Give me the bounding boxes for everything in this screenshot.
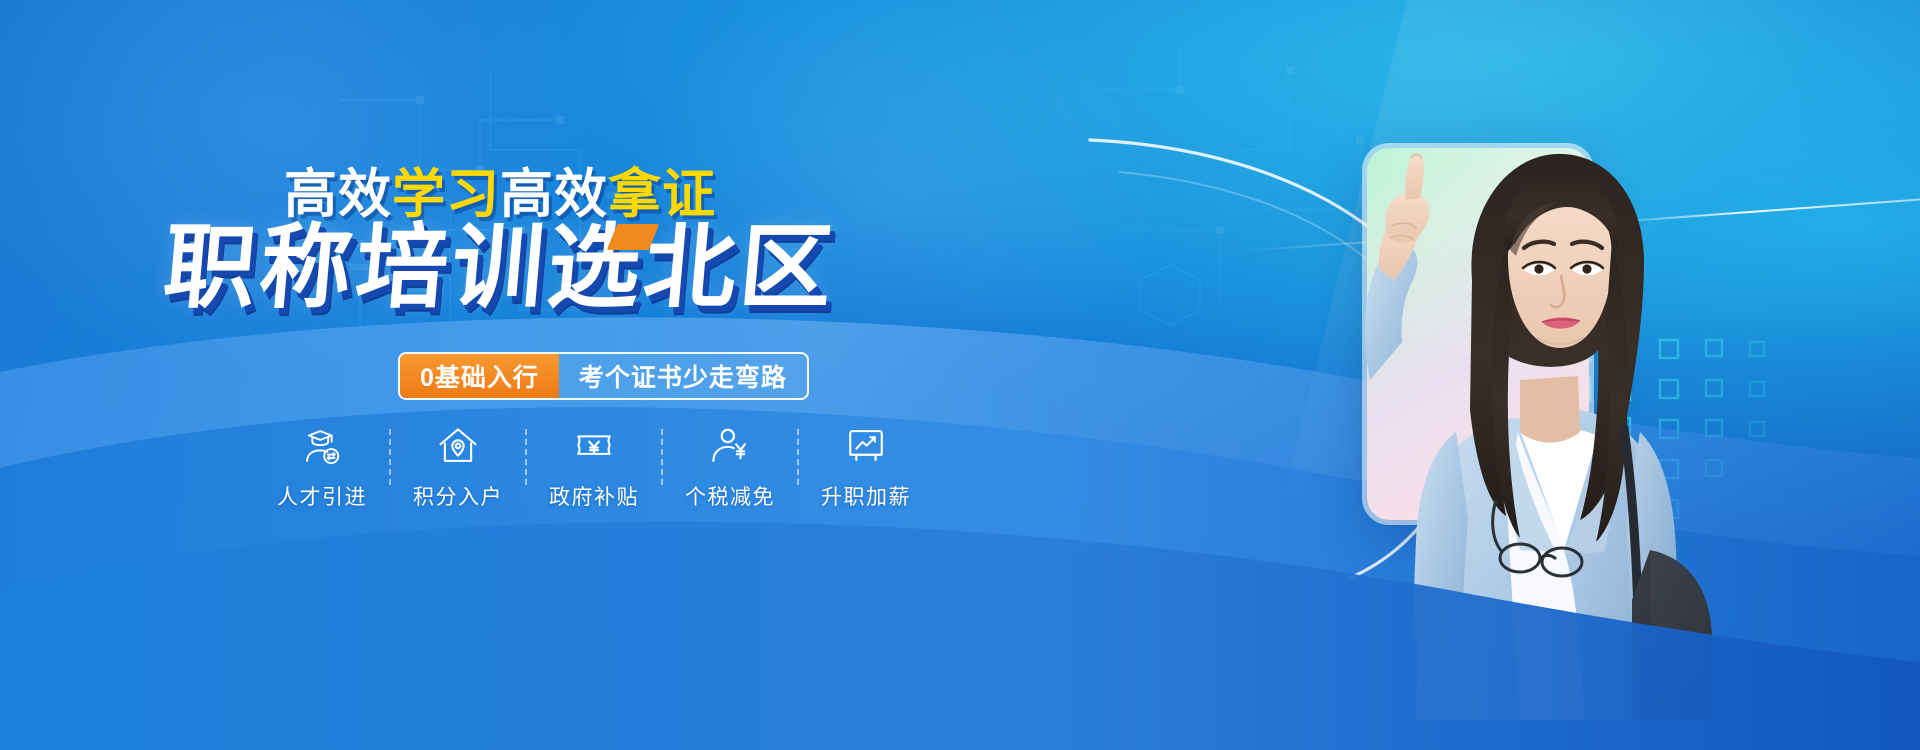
subtitle-bar: 0基础入行 考个证书少走弯路 [398, 352, 809, 400]
foreground-bottom-wave [0, 450, 1920, 750]
headline-wrap: 职称培训选北区 [0, 216, 1000, 319]
page-title: 职称培训选北区 [159, 216, 840, 319]
subtitle-text: 考个证书少走弯路 [559, 354, 807, 398]
zero-base-badge: 0基础入行 [400, 354, 559, 398]
promo-banner: 高效学习高效拿证 职称培训选北区 0基础入行 考个证书少走弯路 [0, 0, 1920, 750]
